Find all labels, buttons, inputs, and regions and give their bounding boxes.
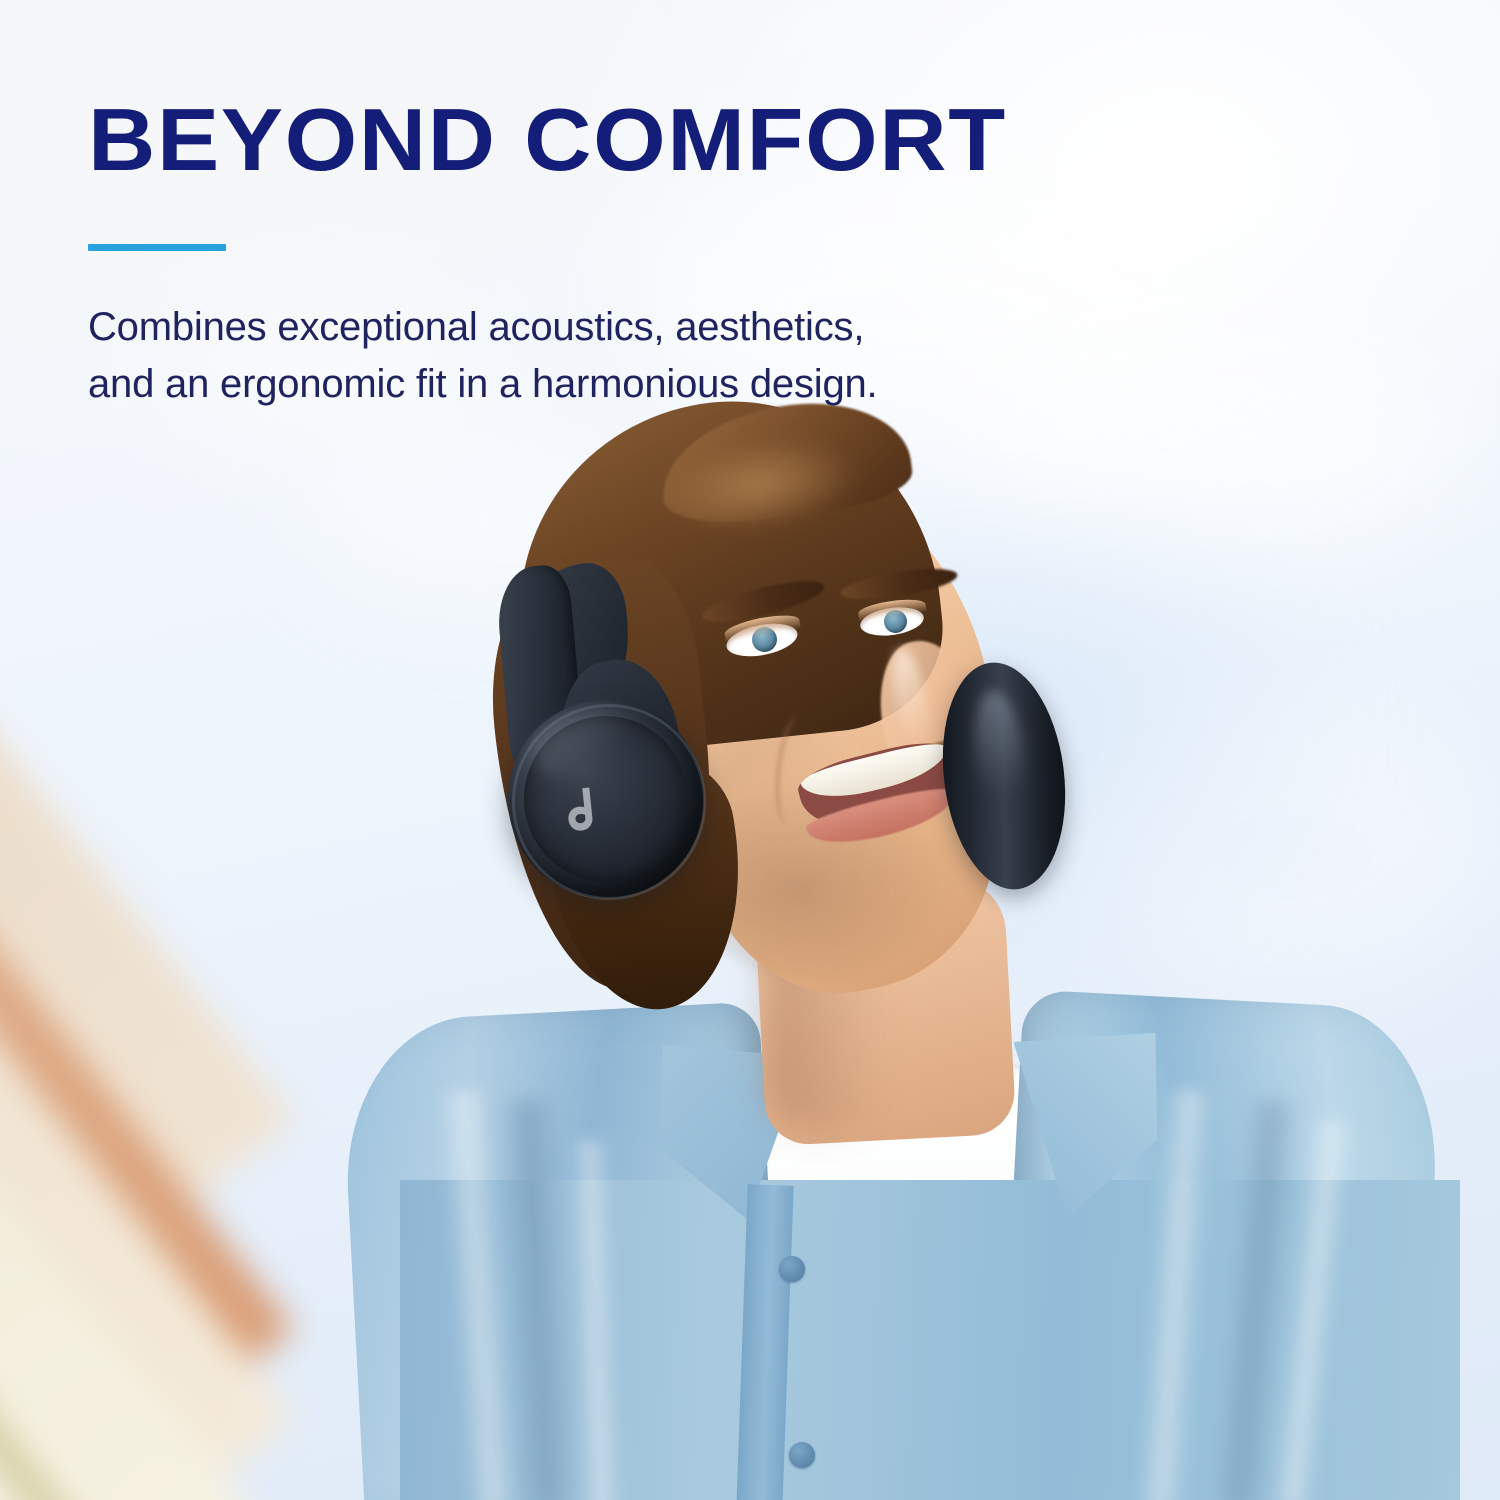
copy-block: BEYOND COMFORT Combines exceptional acou… — [88, 96, 1188, 413]
shirt-button — [789, 1442, 815, 1468]
soundcore-logo-icon — [559, 782, 613, 847]
page-title: BEYOND COMFORT — [88, 96, 1254, 184]
subtitle-text: Combines exceptional acoustics, aestheti… — [88, 299, 1188, 413]
product-lifestyle-poster: BEYOND COMFORT Combines exceptional acou… — [0, 0, 1500, 1500]
accent-rule — [88, 244, 226, 251]
shirt-button — [779, 1256, 805, 1282]
